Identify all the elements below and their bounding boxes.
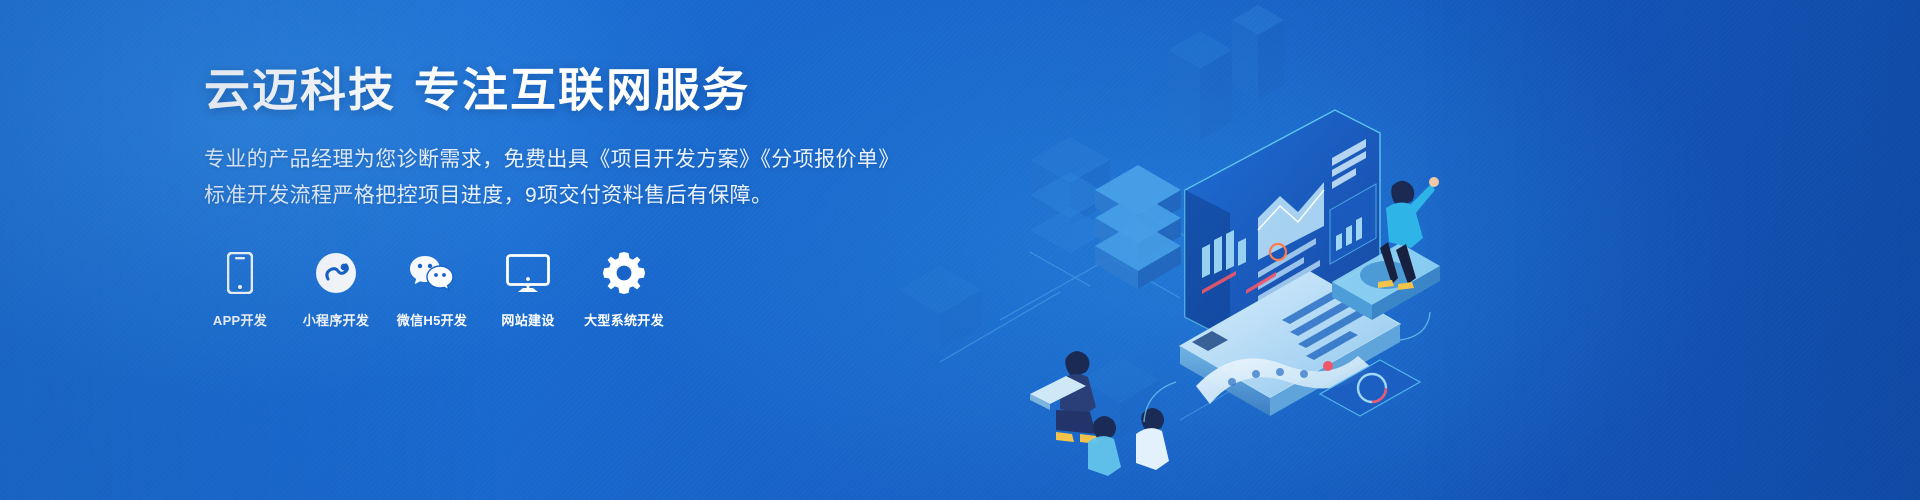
mini-program-icon bbox=[315, 248, 357, 294]
service-label: 微信H5开发 bbox=[397, 310, 467, 329]
monitor-icon bbox=[506, 248, 550, 294]
service-item-system[interactable]: 大型系统开发 bbox=[588, 248, 660, 329]
sitting-person-laptop bbox=[1030, 351, 1098, 444]
subtitle-line-1: 专业的产品经理为您诊断需求，免费出具《项目开发方案》《分项报价单》 bbox=[204, 142, 904, 178]
mobile-phone-icon bbox=[227, 248, 253, 294]
server-stack bbox=[1095, 165, 1181, 289]
page-title: 云迈科技专注互联网服务 bbox=[204, 62, 904, 120]
service-icon-row: APP开发 小程序开发 bbox=[204, 248, 904, 329]
service-label: 小程序开发 bbox=[303, 310, 370, 329]
promo-banner: 云迈科技专注互联网服务 专业的产品经理为您诊断需求，免费出具《项目开发方案》《分… bbox=[0, 0, 1920, 500]
service-item-wechat[interactable]: 微信H5开发 bbox=[396, 248, 468, 329]
service-item-app[interactable]: APP开发 bbox=[204, 248, 276, 329]
service-label: APP开发 bbox=[213, 310, 267, 329]
service-label: 网站建设 bbox=[501, 310, 554, 329]
isometric-illustration bbox=[880, 0, 1440, 500]
gear-icon bbox=[603, 248, 645, 294]
banner-content: 云迈科技专注互联网服务 专业的产品经理为您诊断需求，免费出具《项目开发方案》《分… bbox=[204, 62, 904, 329]
service-label: 大型系统开发 bbox=[584, 310, 664, 329]
service-item-miniprogram[interactable]: 小程序开发 bbox=[300, 248, 372, 329]
subtitle-line-2: 标准开发流程严格把控项目进度，9项交付资料售后有保障。 bbox=[204, 178, 904, 214]
headline-brand: 云迈科技 bbox=[204, 64, 396, 116]
wechat-icon bbox=[409, 248, 455, 294]
service-item-website[interactable]: 网站建设 bbox=[492, 248, 564, 329]
banner-subtitle: 专业的产品经理为您诊断需求，免费出具《项目开发方案》《分项报价单》 标准开发流程… bbox=[204, 142, 904, 214]
headline-tagline: 专注互联网服务 bbox=[414, 64, 750, 116]
